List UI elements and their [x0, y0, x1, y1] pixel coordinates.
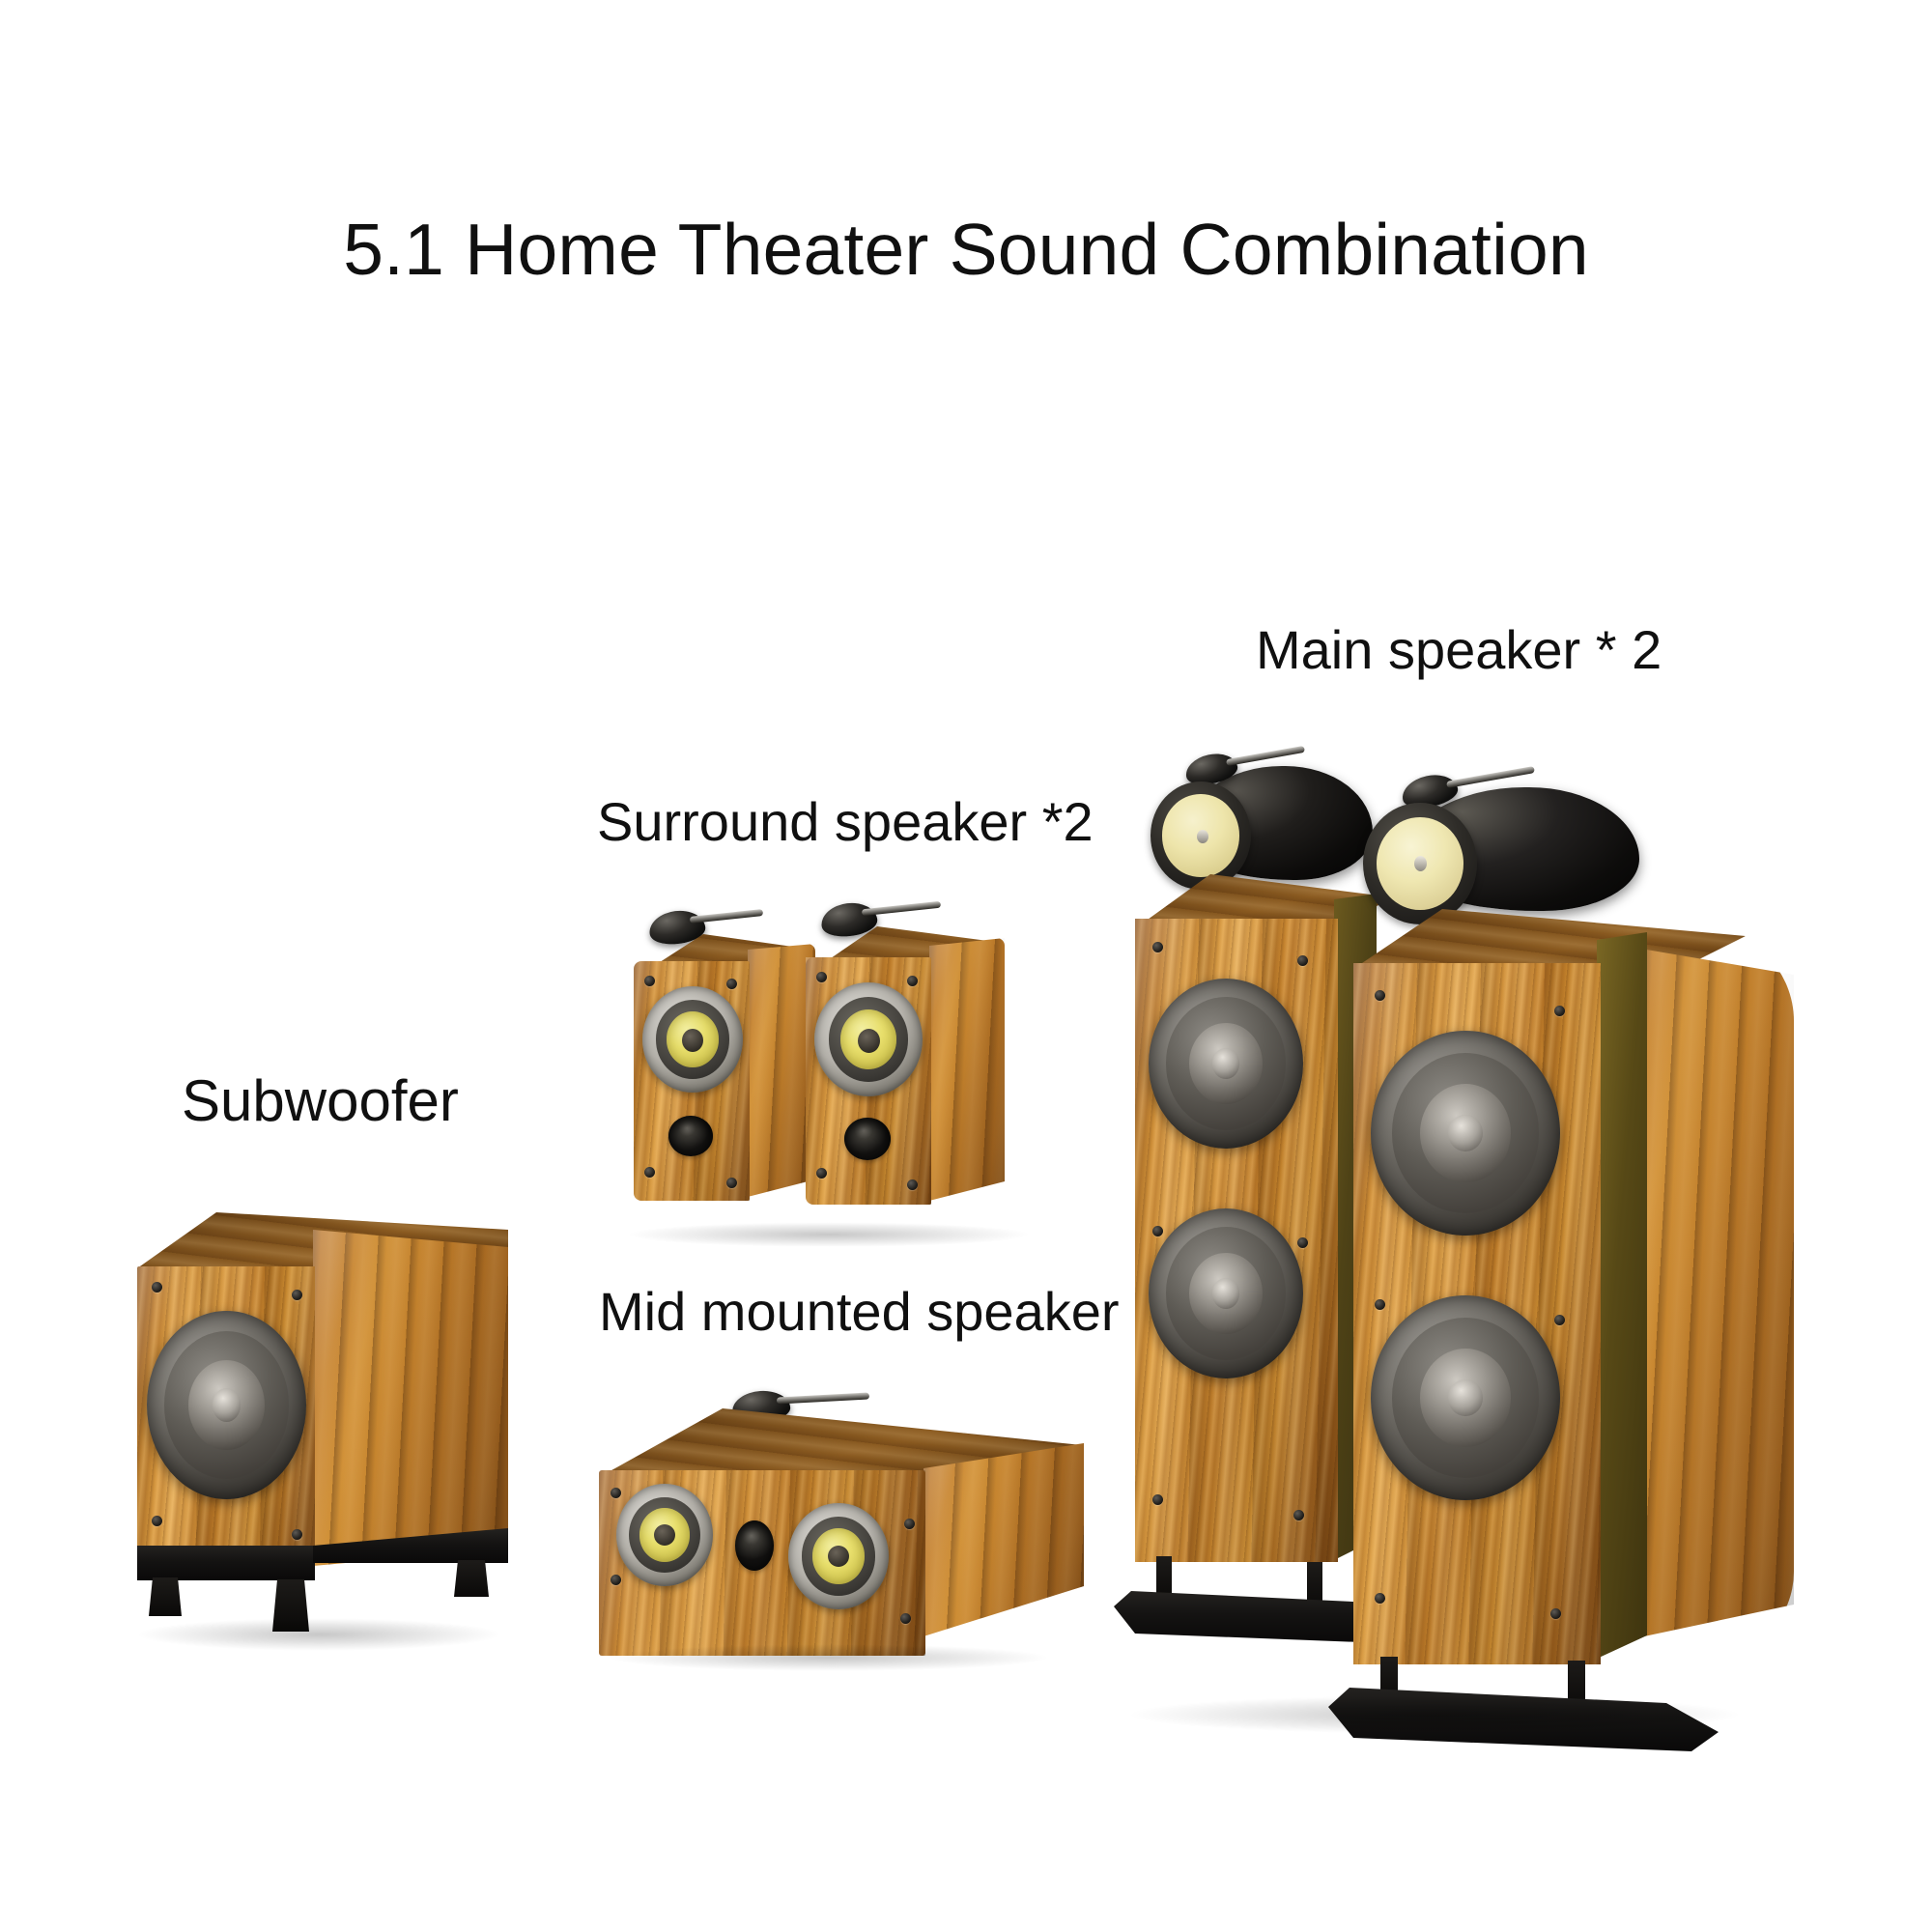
screw — [726, 1178, 737, 1188]
screw — [900, 1613, 911, 1624]
tweeter-stem — [862, 901, 941, 917]
driver-dust-cap — [654, 1524, 675, 1546]
surround-cabinet-front — [634, 961, 750, 1201]
main-speakers-product — [1135, 729, 1792, 1753]
main-cabinet-front-left — [1135, 919, 1338, 1562]
screw — [1554, 1006, 1565, 1016]
page-title: 5.1 Home Theater Sound Combination — [343, 208, 1589, 291]
screw — [726, 979, 737, 989]
subwoofer-cabinet-front — [137, 1266, 315, 1561]
tweeter-stem — [690, 909, 763, 923]
screw — [1293, 1510, 1304, 1520]
screw — [152, 1282, 162, 1293]
center-shadow — [607, 1644, 1051, 1671]
center-cabinet-front — [599, 1470, 925, 1656]
subwoofer-foot — [149, 1577, 182, 1616]
main-speaker-right — [1353, 758, 1798, 1724]
screw — [1375, 1299, 1385, 1310]
tweeter-stem — [777, 1392, 869, 1404]
surround-speaker-right — [798, 903, 1039, 1239]
surround-shadow — [626, 1222, 1032, 1247]
screw — [1375, 990, 1385, 1001]
driver-dust-cap — [682, 1029, 703, 1052]
subwoofer-foot — [454, 1560, 489, 1597]
midrange-driver-left — [1151, 781, 1251, 890]
label-subwoofer: Subwoofer — [182, 1067, 459, 1134]
screw — [1550, 1608, 1561, 1619]
subwoofer-driver — [147, 1311, 306, 1499]
screw — [292, 1529, 302, 1540]
surround-speakers-product — [626, 894, 1041, 1241]
surround-cabinet-front — [806, 957, 931, 1205]
bass-port — [844, 1118, 891, 1160]
tweeter-stem — [1446, 766, 1535, 788]
screw — [907, 1179, 918, 1190]
surround-cabinet-side — [929, 938, 1005, 1201]
screw — [1152, 942, 1163, 952]
label-mid-mounted-speaker: Mid mounted speaker — [599, 1280, 1120, 1343]
main-woofer-lower-left — [1149, 1208, 1303, 1378]
screw — [1554, 1315, 1565, 1325]
main-woofer-upper-left — [1149, 979, 1303, 1149]
subwoofer-base — [137, 1546, 315, 1580]
screw — [904, 1519, 915, 1529]
screw — [1152, 1226, 1163, 1236]
screw — [1297, 1237, 1308, 1248]
screw — [816, 972, 827, 982]
main-cabinet-front-right — [1353, 963, 1601, 1664]
label-main-speaker: Main speaker * 2 — [1256, 618, 1662, 681]
main-woofer-lower-right — [1371, 1295, 1560, 1500]
subwoofer-product — [126, 1212, 560, 1657]
mid-mounted-speaker-product — [597, 1391, 1109, 1681]
main-woofer-upper-right — [1371, 1031, 1560, 1236]
subwoofer-cabinet-side — [313, 1230, 508, 1566]
screw — [1297, 955, 1308, 966]
subwoofer-shadow — [135, 1618, 502, 1651]
midrange-driver-right — [1363, 803, 1477, 924]
product-diagram-canvas: 5.1 Home Theater Sound Combination Main … — [0, 0, 1932, 1932]
cabinet-trim-right — [1597, 932, 1647, 1659]
screw — [611, 1575, 621, 1585]
label-surround-speaker: Surround speaker *2 — [597, 790, 1094, 853]
screw — [292, 1290, 302, 1300]
driver-dust-cap — [828, 1546, 849, 1567]
bass-port — [735, 1520, 774, 1571]
screw — [1375, 1593, 1385, 1604]
screw — [1152, 1494, 1163, 1505]
screw — [644, 1167, 655, 1178]
bass-port — [668, 1116, 713, 1156]
center-cabinet-side — [923, 1443, 1084, 1636]
driver-dust-cap — [858, 1029, 880, 1053]
screw — [816, 1168, 827, 1179]
midrange-pod-right — [1363, 776, 1643, 921]
screw — [644, 976, 655, 986]
tweeter-stem — [1226, 746, 1305, 766]
screw — [907, 976, 918, 986]
screw — [152, 1516, 162, 1526]
midrange-pod-left — [1149, 754, 1371, 890]
screw — [611, 1488, 621, 1498]
main-speakers-shadow — [1125, 1695, 1744, 1734]
